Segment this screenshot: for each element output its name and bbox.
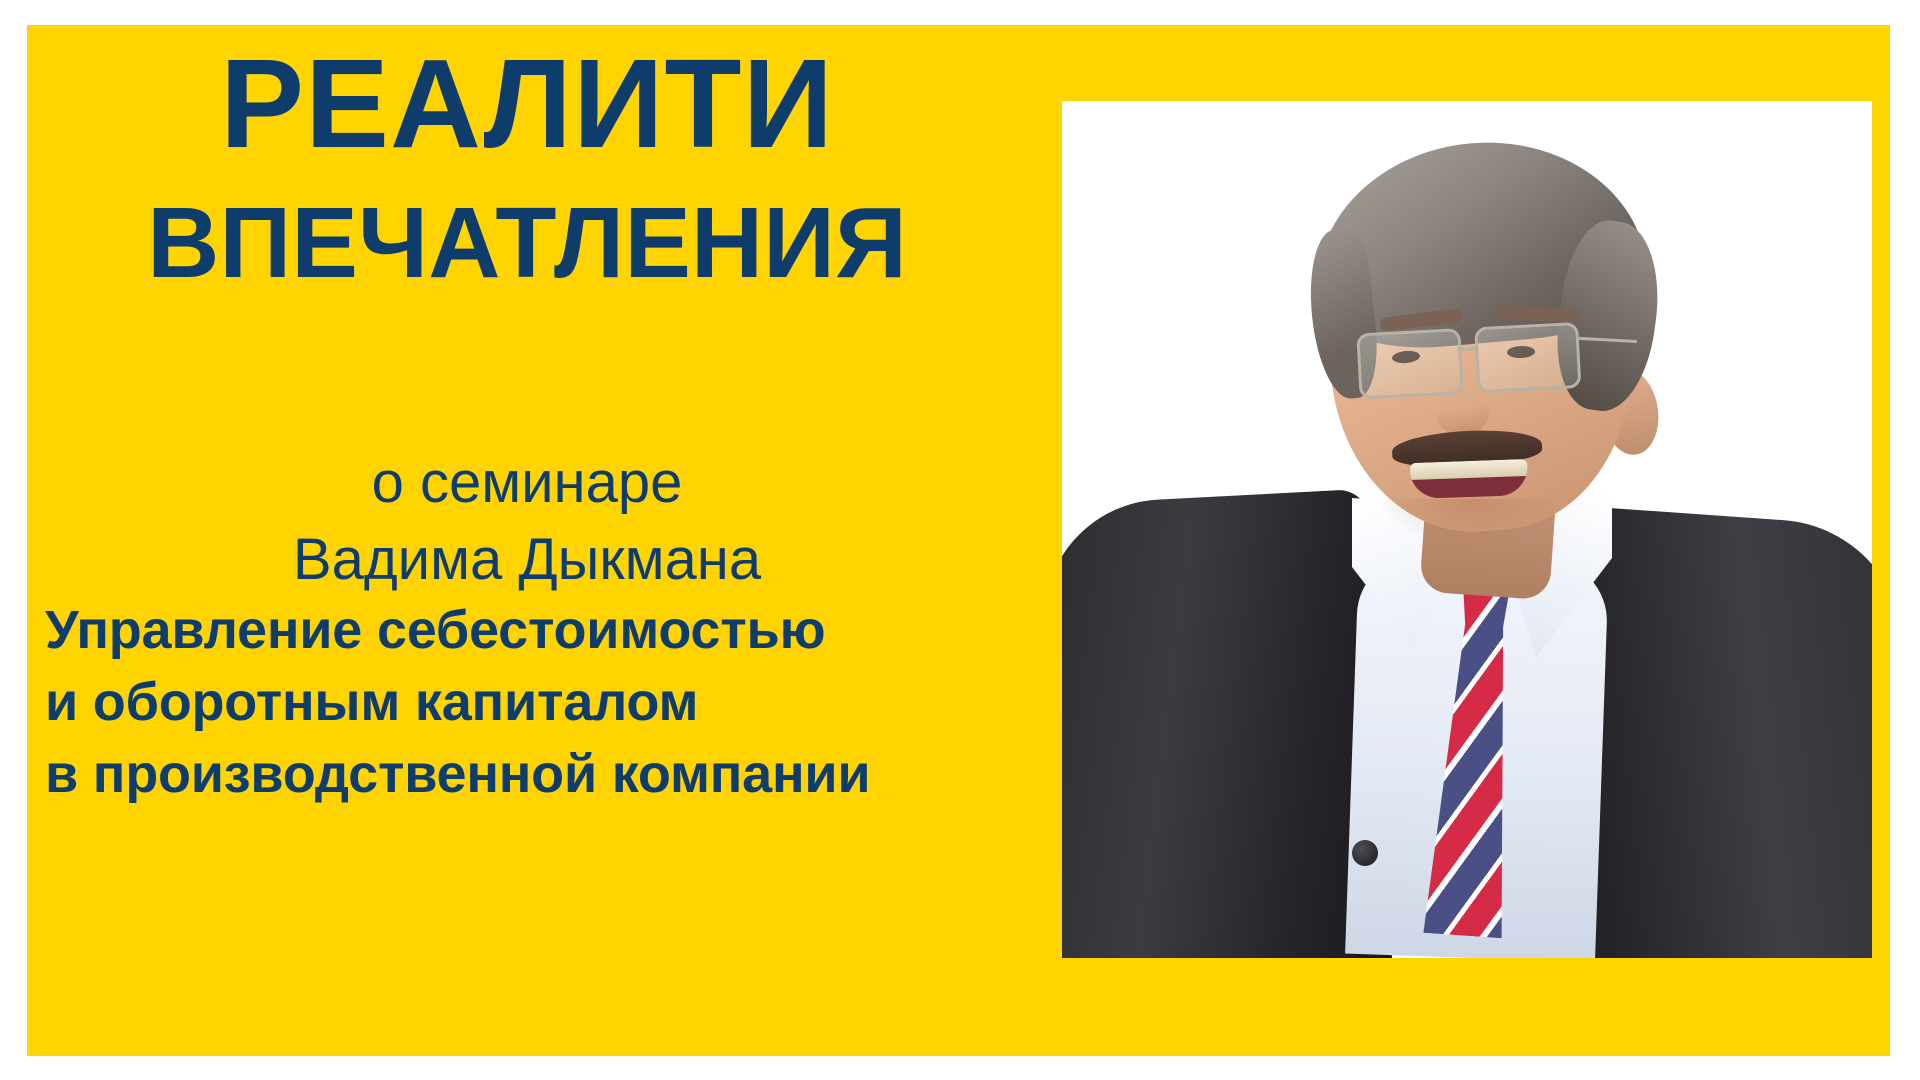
subtitle-line-1: о семинаре	[27, 445, 1027, 522]
smiling-mouth	[1409, 459, 1528, 499]
nose	[1434, 373, 1490, 435]
tagline-line-2: и оборотным капиталом	[45, 667, 1045, 739]
title-line-1: РЕАЛИТИ	[27, 33, 1027, 174]
poster-text-column: РЕАЛИТИ ВПЕЧАТЛЕНИЯ о семинаре Вадима Ды…	[27, 25, 1062, 1056]
portrait-illustration	[1062, 101, 1872, 958]
lens-right	[1474, 322, 1581, 393]
teeth	[1409, 459, 1528, 480]
suit-button	[1352, 840, 1378, 866]
subtitle-line-2: Вадима Дыкмана	[27, 522, 1027, 599]
poster-title: РЕАЛИТИ ВПЕЧАТЛЕНИЯ	[27, 33, 1027, 304]
title-line-2: ВПЕЧАТЛЕНИЯ	[27, 182, 1027, 304]
poster-tagline: Управление себестоимостью и оборотным ка…	[45, 595, 1045, 810]
poster-canvas: РЕАЛИТИ ВПЕЧАТЛЕНИЯ о семинаре Вадима Ды…	[27, 25, 1890, 1056]
chin-shadow	[1380, 499, 1560, 543]
poster-subtitle: о семинаре Вадима Дыкмана	[27, 445, 1027, 598]
speaker-portrait-photo	[1062, 101, 1872, 958]
tagline-line-3: в производственной компании	[45, 739, 1045, 811]
suit-lapel-left	[1062, 489, 1392, 958]
tagline-line-1: Управление себестоимостью	[45, 595, 1045, 667]
